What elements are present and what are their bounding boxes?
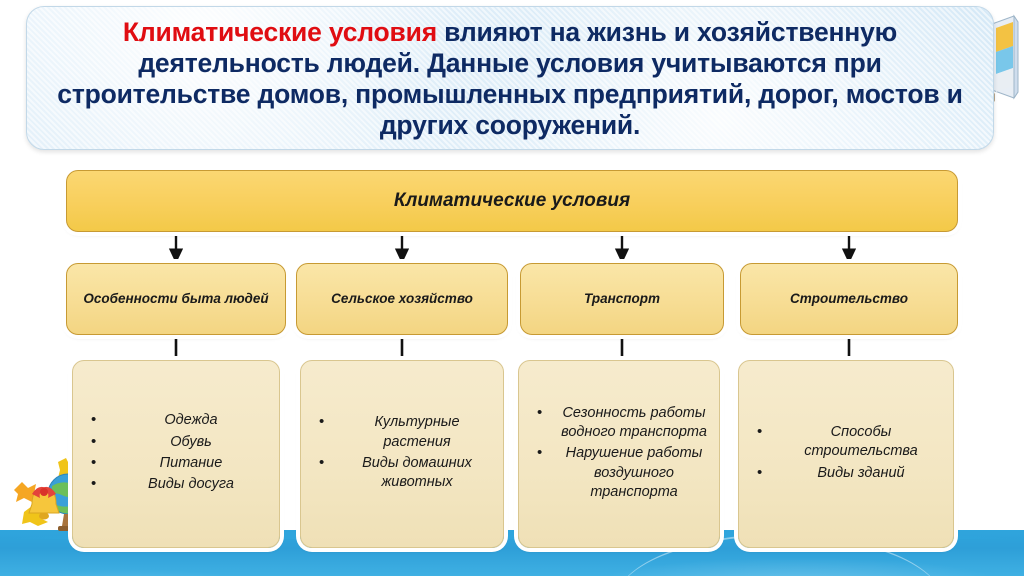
- detail-list: ОдеждаОбувьПитаниеВиды досуга: [73, 411, 279, 496]
- list-item: Виды досуга: [89, 475, 267, 494]
- root-node-climate-conditions[interactable]: Климатические условия: [66, 170, 958, 232]
- list-item: Виды зданий: [755, 464, 941, 483]
- list-item: Обувь: [89, 433, 267, 452]
- list-item: Виды домашних животных: [317, 454, 491, 493]
- category-node-transport[interactable]: Транспорт: [520, 263, 724, 335]
- category-node-agriculture[interactable]: Сельское хозяйство: [296, 263, 508, 335]
- list-item: Питание: [89, 454, 267, 473]
- detail-node-everyday-life[interactable]: ОдеждаОбувьПитаниеВиды досуга: [72, 360, 280, 548]
- list-item: Сезонность работы водного транспорта: [535, 404, 707, 443]
- category-node-construction[interactable]: Строительство: [740, 263, 958, 335]
- category-node-label: Строительство: [782, 291, 916, 307]
- detail-node-agriculture[interactable]: Культурные растенияВиды домашних животны…: [300, 360, 504, 548]
- list-item: Культурные растения: [317, 413, 491, 452]
- detail-node-construction[interactable]: Способы строительстваВиды зданий: [738, 360, 954, 548]
- category-node-label: Сельское хозяйство: [323, 291, 481, 307]
- detail-list: Сезонность работы водного транспортаНару…: [519, 404, 719, 504]
- category-node-label: Транспорт: [576, 291, 668, 307]
- list-item: Одежда: [89, 411, 267, 430]
- detail-node-transport[interactable]: Сезонность работы водного транспортаНару…: [518, 360, 720, 548]
- list-item: Способы строительства: [755, 423, 941, 462]
- category-node-everyday-life[interactable]: Особенности быта людей: [66, 263, 286, 335]
- category-node-label: Особенности быта людей: [75, 291, 276, 307]
- root-node-label: Климатические условия: [394, 190, 630, 212]
- list-item: Нарушение работы воздушного транспорта: [535, 444, 707, 502]
- detail-list: Способы строительстваВиды зданий: [739, 423, 953, 485]
- detail-list: Культурные растенияВиды домашних животны…: [301, 413, 503, 494]
